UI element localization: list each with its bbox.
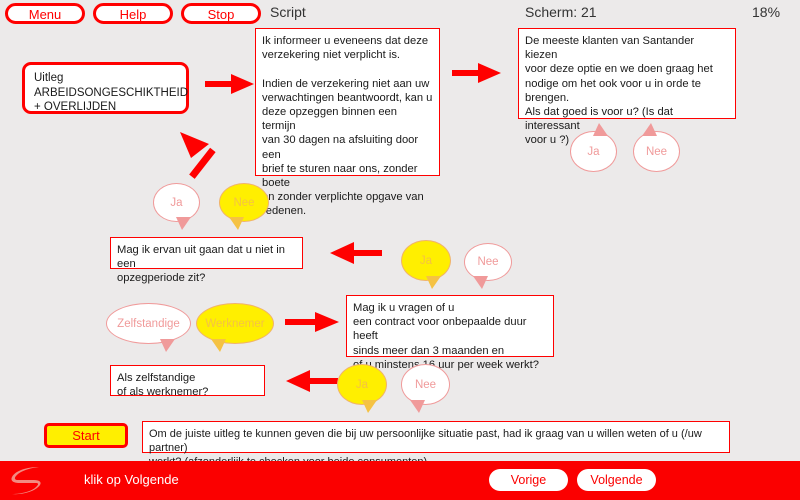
bubble-label: Nee xyxy=(415,379,436,391)
script-box-3[interactable]: Mag ik ervan uit gaan dat u niet in een … xyxy=(110,237,303,269)
bubble-ja-row5[interactable]: Ja xyxy=(337,364,387,405)
footer-hint-text: klik op Volgende xyxy=(84,472,179,487)
bubble-tail xyxy=(410,400,425,413)
bubble-label: Zelfstandige xyxy=(117,318,180,330)
bubble-tail xyxy=(426,276,441,289)
stop-button[interactable]: Stop xyxy=(181,3,261,24)
arrow-right-icon-2 xyxy=(452,62,502,84)
script-box-4[interactable]: Mag ik u vragen of u een contract voor o… xyxy=(346,295,554,357)
bubble-tail xyxy=(211,339,226,352)
bubble-ja-row3[interactable]: Ja xyxy=(401,240,451,281)
bubble-label: Werknemer xyxy=(205,318,264,330)
footer-bar: klik op Volgende Vorige Volgende xyxy=(0,461,800,500)
bubble-nee-row1[interactable]: Nee xyxy=(633,131,680,172)
next-button[interactable]: Volgende xyxy=(577,469,656,491)
bubble-tail xyxy=(362,400,377,413)
script-box-5[interactable]: Als zelfstandige of als werknemer? xyxy=(110,365,265,396)
script-box-1[interactable]: Ik informeer u eveneens dat deze verzeke… xyxy=(255,28,440,176)
bubble-tail xyxy=(176,217,191,230)
bubble-tail xyxy=(642,123,657,136)
bubble-zelfstandige[interactable]: Zelfstandige xyxy=(106,303,191,344)
top-toolbar: Menu Help Stop Script Scherm: 21 18% xyxy=(0,0,800,26)
bubble-nee-row3[interactable]: Nee xyxy=(464,243,512,281)
application-window: Menu Help Stop Script Scherm: 21 18% Uit… xyxy=(0,0,800,500)
bubble-nee-row2[interactable]: Nee xyxy=(219,183,269,222)
arrow-right-icon-3 xyxy=(285,311,340,333)
bubble-ja-row2[interactable]: Ja xyxy=(153,183,200,222)
script-title: Script xyxy=(270,4,306,20)
bubble-label: Ja xyxy=(170,197,182,209)
zoom-level-label: 18% xyxy=(752,4,780,20)
bubble-tail xyxy=(229,217,244,230)
menu-button[interactable]: Menu xyxy=(5,3,85,24)
bubble-nee-row5[interactable]: Nee xyxy=(401,364,450,405)
arrow-right-icon-1 xyxy=(205,73,255,95)
script-box-2[interactable]: De meeste klanten van Santander kiezen v… xyxy=(518,28,736,119)
bubble-tail xyxy=(593,123,608,136)
bubble-ja-row1[interactable]: Ja xyxy=(570,131,617,172)
bubble-tail xyxy=(160,339,175,352)
bubble-label: Nee xyxy=(646,146,667,158)
script-box-6[interactable]: Om de juiste uitleg te kunnen geven die … xyxy=(142,421,730,453)
bubble-label: Ja xyxy=(420,255,432,267)
start-button[interactable]: Start xyxy=(44,423,128,448)
santander-z-logo-icon xyxy=(8,464,44,497)
arrow-up-left-icon xyxy=(178,128,224,180)
bubble-label: Ja xyxy=(587,146,599,158)
previous-button[interactable]: Vorige xyxy=(489,469,568,491)
bubble-label: Ja xyxy=(356,379,368,391)
bubble-werknemer[interactable]: Werknemer xyxy=(196,303,274,344)
help-button[interactable]: Help xyxy=(93,3,173,24)
bubble-tail xyxy=(473,276,488,289)
arrow-left-icon-1 xyxy=(322,241,382,265)
arrow-left-icon-2 xyxy=(278,369,338,393)
bubble-label: Nee xyxy=(477,256,498,268)
uitleg-node-box[interactable]: Uitleg ARBEIDSONGESCHIKTHEID + OVERLIJDE… xyxy=(22,62,189,114)
bubble-label: Nee xyxy=(233,197,254,209)
screen-number-label: Scherm: 21 xyxy=(525,4,597,20)
